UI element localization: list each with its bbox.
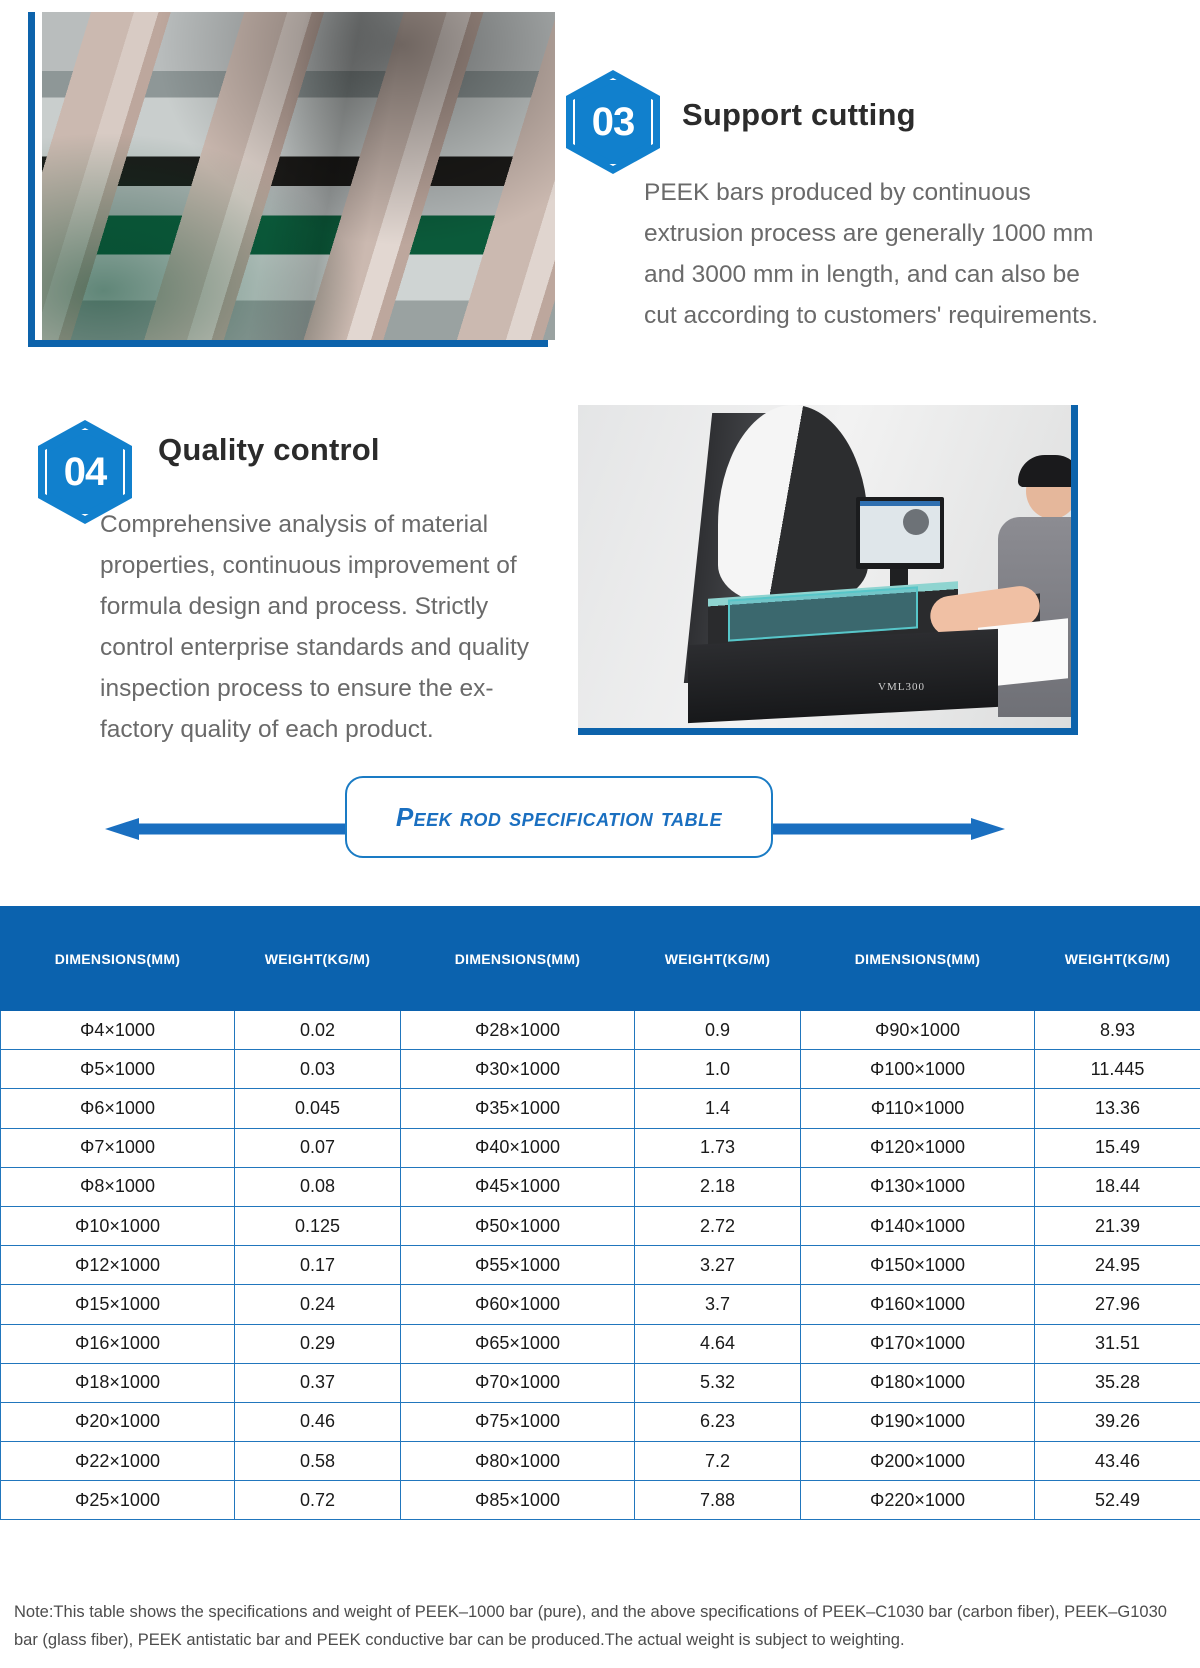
table-row: Φ22×10000.58Φ80×10007.2Φ200×100043.46 [1,1442,1200,1481]
table-cell: Φ45×1000 [401,1167,635,1206]
table-cell: 1.73 [635,1128,801,1167]
table-cell: 11.445 [1035,1050,1200,1089]
table-row: Φ7×10000.07Φ40×10001.73Φ120×100015.49 [1,1128,1200,1167]
table-cell: Φ70×1000 [401,1363,635,1402]
step-number-04: 04 [38,420,132,524]
table-cell: Φ110×1000 [801,1089,1035,1128]
table-cell: Φ90×1000 [801,1011,1035,1050]
table-cell: Φ8×1000 [1,1167,235,1206]
table-row: Φ20×10000.46Φ75×10006.23Φ190×100039.26 [1,1402,1200,1441]
table-cell: 24.95 [1035,1246,1200,1285]
photo-screen-circle [903,509,929,535]
table-row: Φ16×10000.29Φ65×10004.64Φ170×100031.51 [1,1324,1200,1363]
column-header: WEIGHT(KG/M) [635,907,801,1011]
table-row: Φ12×10000.17Φ55×10003.27Φ150×100024.95 [1,1246,1200,1285]
table-cell: 0.02 [235,1011,401,1050]
table-cell: 8.93 [1035,1011,1200,1050]
table-cell: 0.58 [235,1442,401,1481]
table-cell: Φ190×1000 [801,1402,1035,1441]
table-cell: 52.49 [1035,1481,1200,1520]
table-cell: Φ12×1000 [1,1246,235,1285]
peek-rods-photo [42,12,555,340]
table-cell: 0.24 [235,1285,401,1324]
table-cell: 43.46 [1035,1442,1200,1481]
spec-table-title: Peek rod specification table [396,802,722,833]
column-header: WEIGHT(KG/M) [1035,907,1200,1011]
section-body-04: Comprehensive analysis of material prope… [100,504,565,750]
table-cell: 1.0 [635,1050,801,1089]
table-cell: 0.125 [235,1206,401,1245]
table-cell: Φ22×1000 [1,1442,235,1481]
table-cell: Φ60×1000 [401,1285,635,1324]
table-cell: Φ28×1000 [401,1011,635,1050]
table-cell: Φ16×1000 [1,1324,235,1363]
table-cell: Φ25×1000 [1,1481,235,1520]
photo-machine-base [688,629,998,723]
support-cutting-photo-frame [28,12,548,347]
quality-control-photo-frame: VML300 [578,405,1078,735]
photo-monitor-screen [860,501,940,563]
table-cell: 27.96 [1035,1285,1200,1324]
table-cell: Φ10×1000 [1,1206,235,1245]
section-title-03: Support cutting [682,97,916,133]
table-cell: 39.26 [1035,1402,1200,1441]
column-header: WEIGHT(KG/M) [235,907,401,1011]
table-cell: Φ35×1000 [401,1089,635,1128]
table-cell: Φ180×1000 [801,1363,1035,1402]
table-cell: Φ15×1000 [1,1285,235,1324]
table-row: Φ5×10000.03Φ30×10001.0Φ100×100011.445 [1,1050,1200,1089]
section-quality-control: 04 Quality control Comprehensive analysi… [0,392,1200,772]
table-cell: Φ100×1000 [801,1050,1035,1089]
table-row: Φ6×10000.045Φ35×10001.4Φ110×100013.36 [1,1089,1200,1128]
table-cell: 0.9 [635,1011,801,1050]
step-badge-04: 04 [38,420,132,524]
table-cell: 18.44 [1035,1167,1200,1206]
table-cell: 0.37 [235,1363,401,1402]
table-cell: Φ40×1000 [401,1128,635,1167]
photo-machine-model-label: VML300 [878,681,925,693]
table-body: Φ4×10000.02Φ28×10000.9Φ90×10008.93Φ5×100… [1,1011,1200,1520]
table-cell: 3.7 [635,1285,801,1324]
column-header: DIMENSIONS(MM) [1,907,235,1011]
table-cell: 21.39 [1035,1206,1200,1245]
table-row: Φ25×10000.72Φ85×10007.88Φ220×100052.49 [1,1481,1200,1520]
table-cell: 7.2 [635,1442,801,1481]
section-support-cutting: 03 Support cutting PEEK bars produced by… [0,0,1200,392]
table-cell: 0.29 [235,1324,401,1363]
inspection-machine-photo: VML300 [578,405,1071,728]
table-cell: 6.23 [635,1402,801,1441]
table-cell: Φ4×1000 [1,1011,235,1050]
table-cell: 35.28 [1035,1363,1200,1402]
table-cell: Φ140×1000 [801,1206,1035,1245]
table-cell: 3.27 [635,1246,801,1285]
table-cell: Φ55×1000 [401,1246,635,1285]
table-cell: Φ130×1000 [801,1167,1035,1206]
table-cell: 1.4 [635,1089,801,1128]
table-cell: Φ85×1000 [401,1481,635,1520]
table-cell: 0.46 [235,1402,401,1441]
table-cell: Φ65×1000 [401,1324,635,1363]
table-cell: Φ20×1000 [1,1402,235,1441]
table-cell: 7.88 [635,1481,801,1520]
table-row: Φ4×10000.02Φ28×10000.9Φ90×10008.93 [1,1011,1200,1050]
table-cell: Φ220×1000 [801,1481,1035,1520]
section-title-04: Quality control [158,432,380,468]
step-number-03: 03 [566,70,660,174]
table-cell: 2.72 [635,1206,801,1245]
table-cell: Φ6×1000 [1,1089,235,1128]
table-cell: 0.17 [235,1246,401,1285]
table-cell: Φ160×1000 [801,1285,1035,1324]
table-cell: Φ150×1000 [801,1246,1035,1285]
table-cell: Φ30×1000 [401,1050,635,1089]
table-cell: Φ200×1000 [801,1442,1035,1481]
table-cell: Φ75×1000 [401,1402,635,1441]
table-cell: Φ50×1000 [401,1206,635,1245]
table-cell: 13.36 [1035,1089,1200,1128]
table-cell: Φ120×1000 [801,1128,1035,1167]
table-cell: 0.045 [235,1089,401,1128]
table-row: Φ8×10000.08Φ45×10002.18Φ130×100018.44 [1,1167,1200,1206]
table-row: Φ10×10000.125Φ50×10002.72Φ140×100021.39 [1,1206,1200,1245]
table-cell: 0.03 [235,1050,401,1089]
table-row: Φ18×10000.37Φ70×10005.32Φ180×100035.28 [1,1363,1200,1402]
step-badge-03: 03 [566,70,660,174]
spec-table-title-pill: Peek rod specification table [345,776,773,858]
table-cell: 5.32 [635,1363,801,1402]
table-header-row: DIMENSIONS(MM) WEIGHT(KG/M) DIMENSIONS(M… [1,907,1200,1011]
table-cell: 2.18 [635,1167,801,1206]
spec-table-wrapper: DIMENSIONS(MM) WEIGHT(KG/M) DIMENSIONS(M… [0,906,1200,1520]
table-cell: Φ18×1000 [1,1363,235,1402]
table-cell: 0.07 [235,1128,401,1167]
table-cell: 0.08 [235,1167,401,1206]
section-body-03: PEEK bars produced by continuous extrusi… [644,172,1114,336]
table-cell: 4.64 [635,1324,801,1363]
table-cell: 15.49 [1035,1128,1200,1167]
table-row: Φ15×10000.24Φ60×10003.7Φ160×100027.96 [1,1285,1200,1324]
table-cell: Φ170×1000 [801,1324,1035,1363]
table-cell: Φ7×1000 [1,1128,235,1167]
column-header: DIMENSIONS(MM) [801,907,1035,1011]
table-cell: 0.72 [235,1481,401,1520]
column-header: DIMENSIONS(MM) [401,907,635,1011]
table-cell: Φ5×1000 [1,1050,235,1089]
peek-rod-specification-table: DIMENSIONS(MM) WEIGHT(KG/M) DIMENSIONS(M… [0,906,1200,1520]
table-cell: Φ80×1000 [401,1442,635,1481]
table-footnote: Note:This table shows the specifications… [14,1598,1189,1654]
table-cell: 31.51 [1035,1324,1200,1363]
